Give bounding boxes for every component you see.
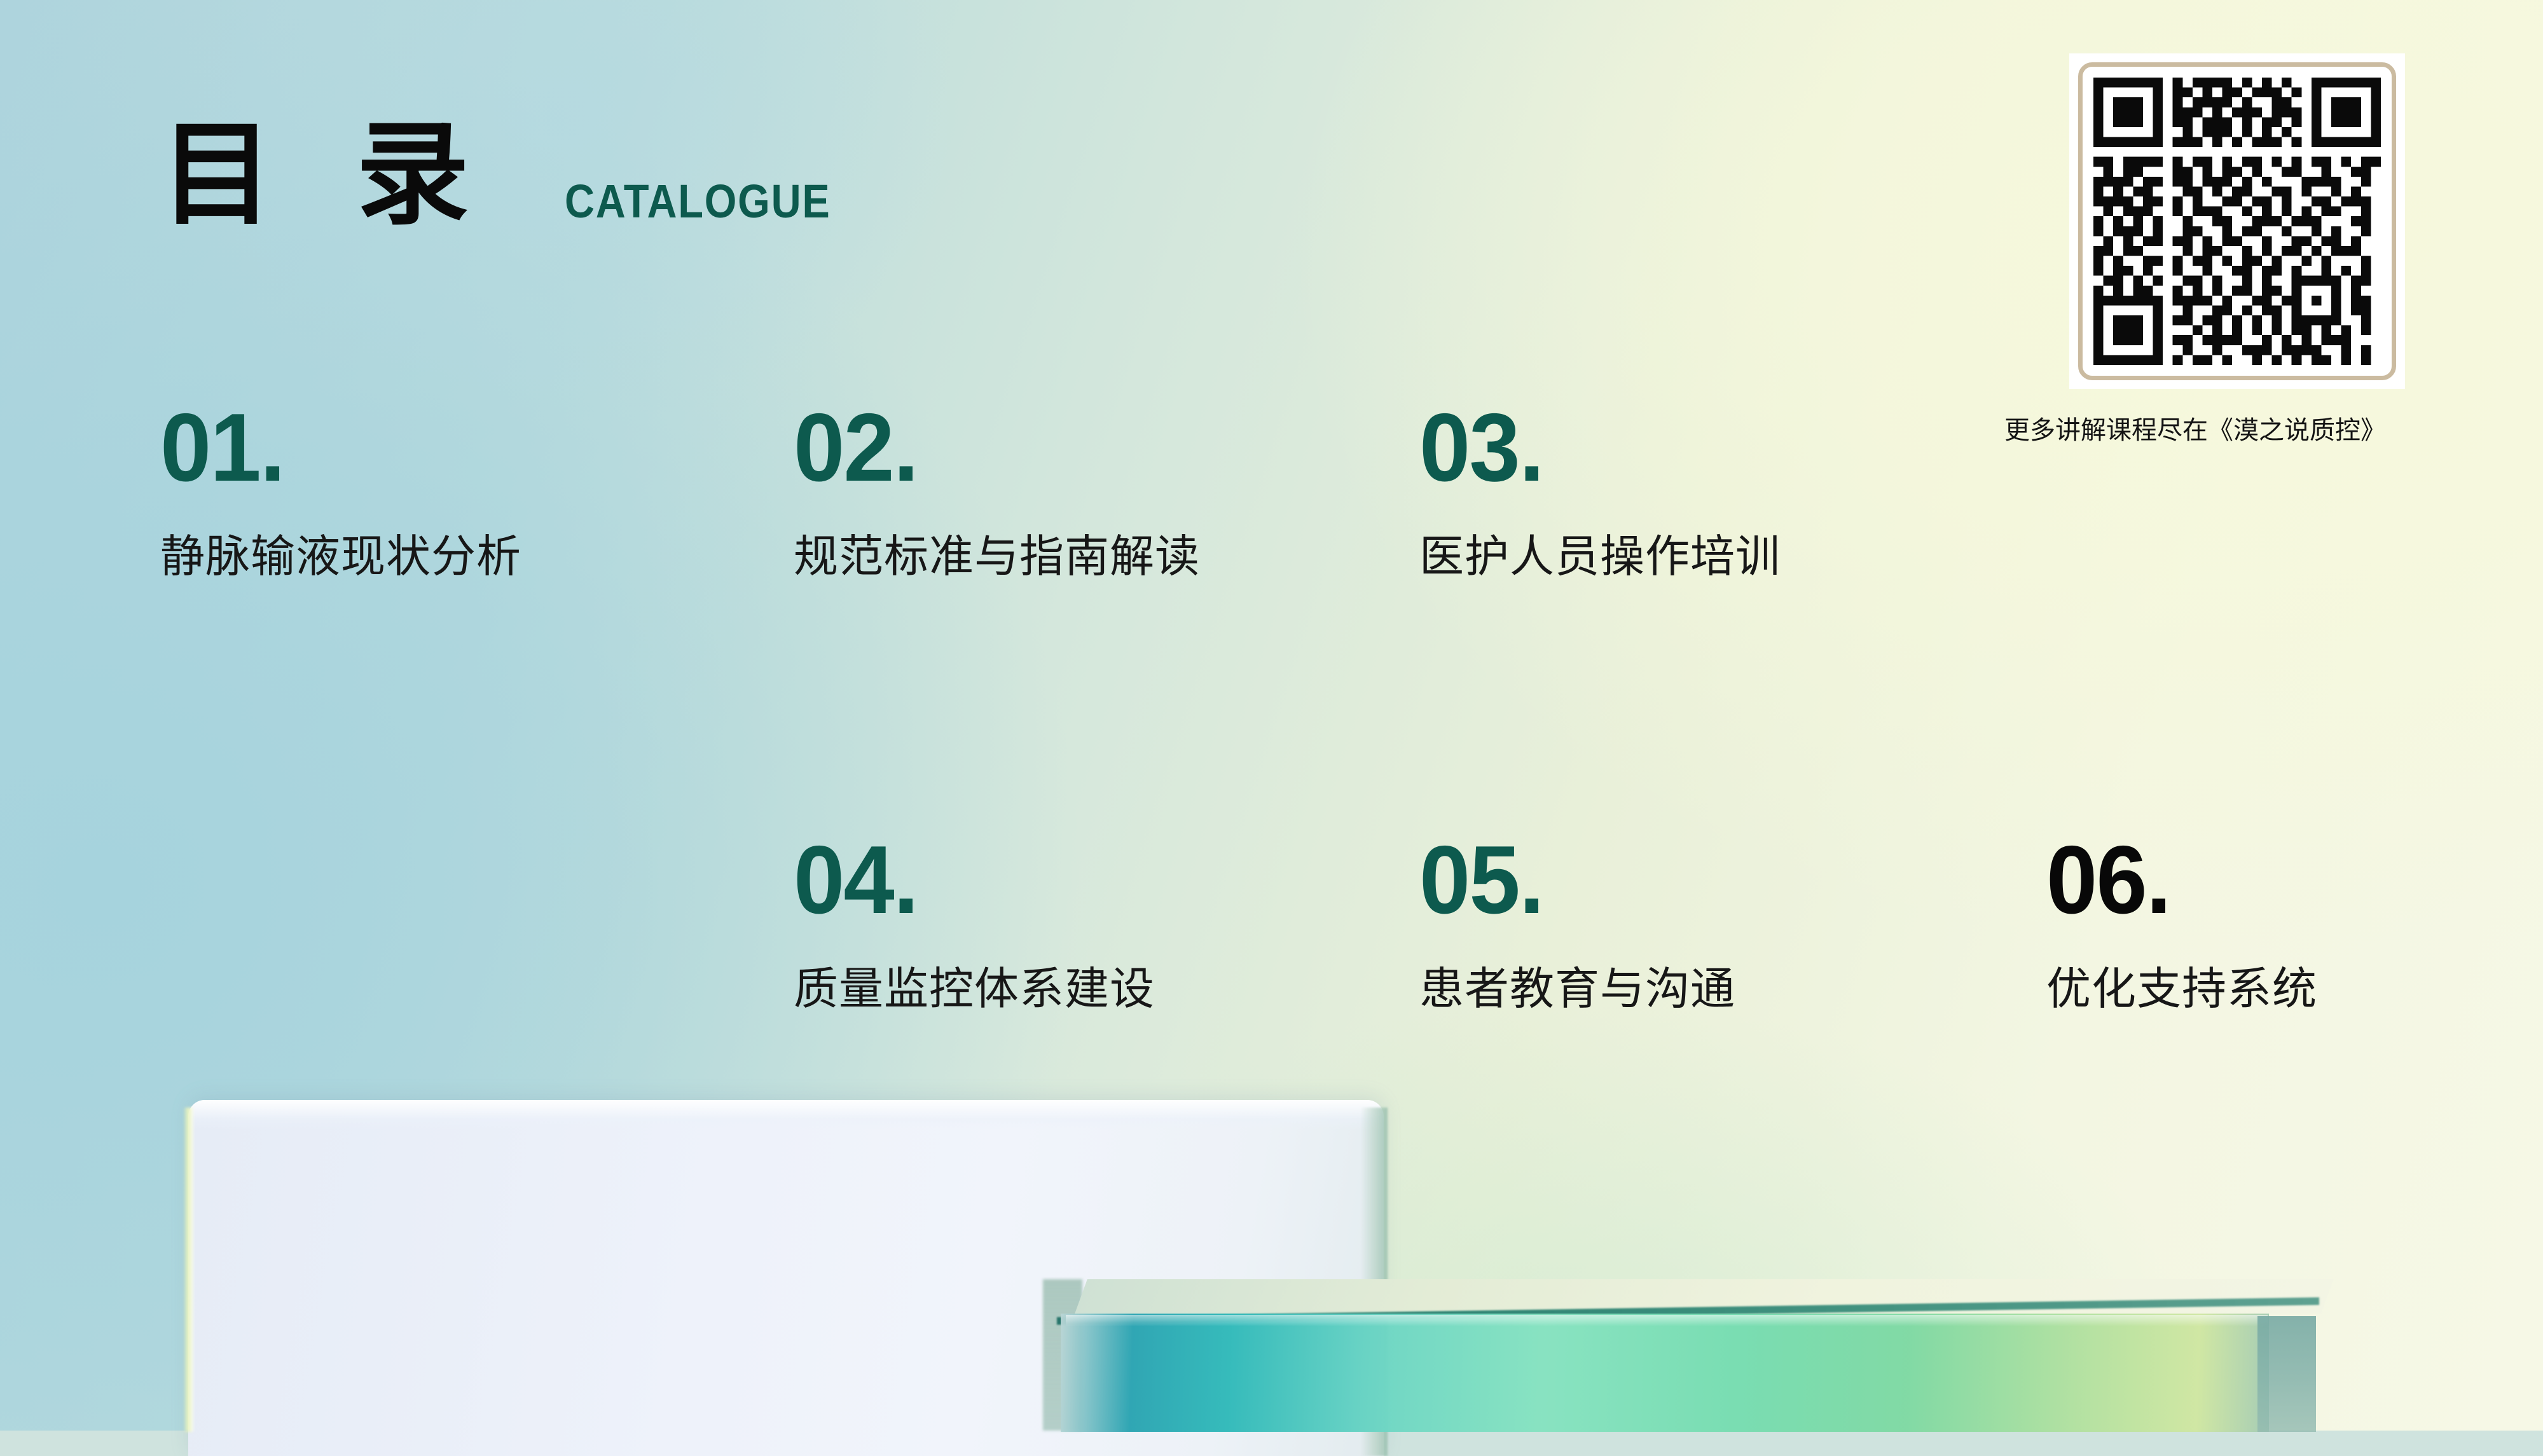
toc-item-02-label: 规范标准与指南解读 bbox=[794, 534, 1200, 579]
page-subtitle-english: CATALOGUE bbox=[565, 178, 831, 225]
toc-item-03-label: 医护人员操作培训 bbox=[1419, 534, 1781, 579]
toc-item-06[interactable]: 06. 优化支持系统 bbox=[2046, 832, 2317, 1011]
qr-code-caption: 更多讲解课程尽在《漠之说质控》 bbox=[2004, 415, 2464, 447]
toc-item-01[interactable]: 01. 静脉输液现状分析 bbox=[160, 399, 521, 579]
toc-item-05[interactable]: 05. 患者教育与沟通 bbox=[1419, 832, 1735, 1011]
toc-item-06-label: 优化支持系统 bbox=[2046, 966, 2317, 1011]
toc-item-04-number: 04. bbox=[794, 832, 1137, 928]
page-title: 目 录 bbox=[160, 118, 491, 231]
toc-item-02[interactable]: 02. 规范标准与指南解读 bbox=[794, 399, 1200, 579]
toc-item-02-number: 02. bbox=[794, 399, 1180, 496]
toc-item-04-label: 质量监控体系建设 bbox=[794, 966, 1155, 1011]
qr-code-card[interactable] bbox=[2069, 53, 2405, 389]
toc-item-01-number: 01. bbox=[160, 399, 504, 496]
toc-item-05-number: 05. bbox=[1419, 832, 1719, 928]
toc-item-04[interactable]: 04. 质量监控体系建设 bbox=[794, 832, 1155, 1011]
toc-item-05-label: 患者教育与沟通 bbox=[1419, 966, 1735, 1011]
toc-item-01-label: 静脉输液现状分析 bbox=[160, 534, 521, 579]
qr-code-icon bbox=[2093, 78, 2381, 365]
toc-item-03-number: 03. bbox=[1419, 399, 1763, 496]
toc-item-06-number: 06. bbox=[2046, 832, 2304, 928]
toc-item-03[interactable]: 03. 医护人员操作培训 bbox=[1419, 399, 1781, 579]
